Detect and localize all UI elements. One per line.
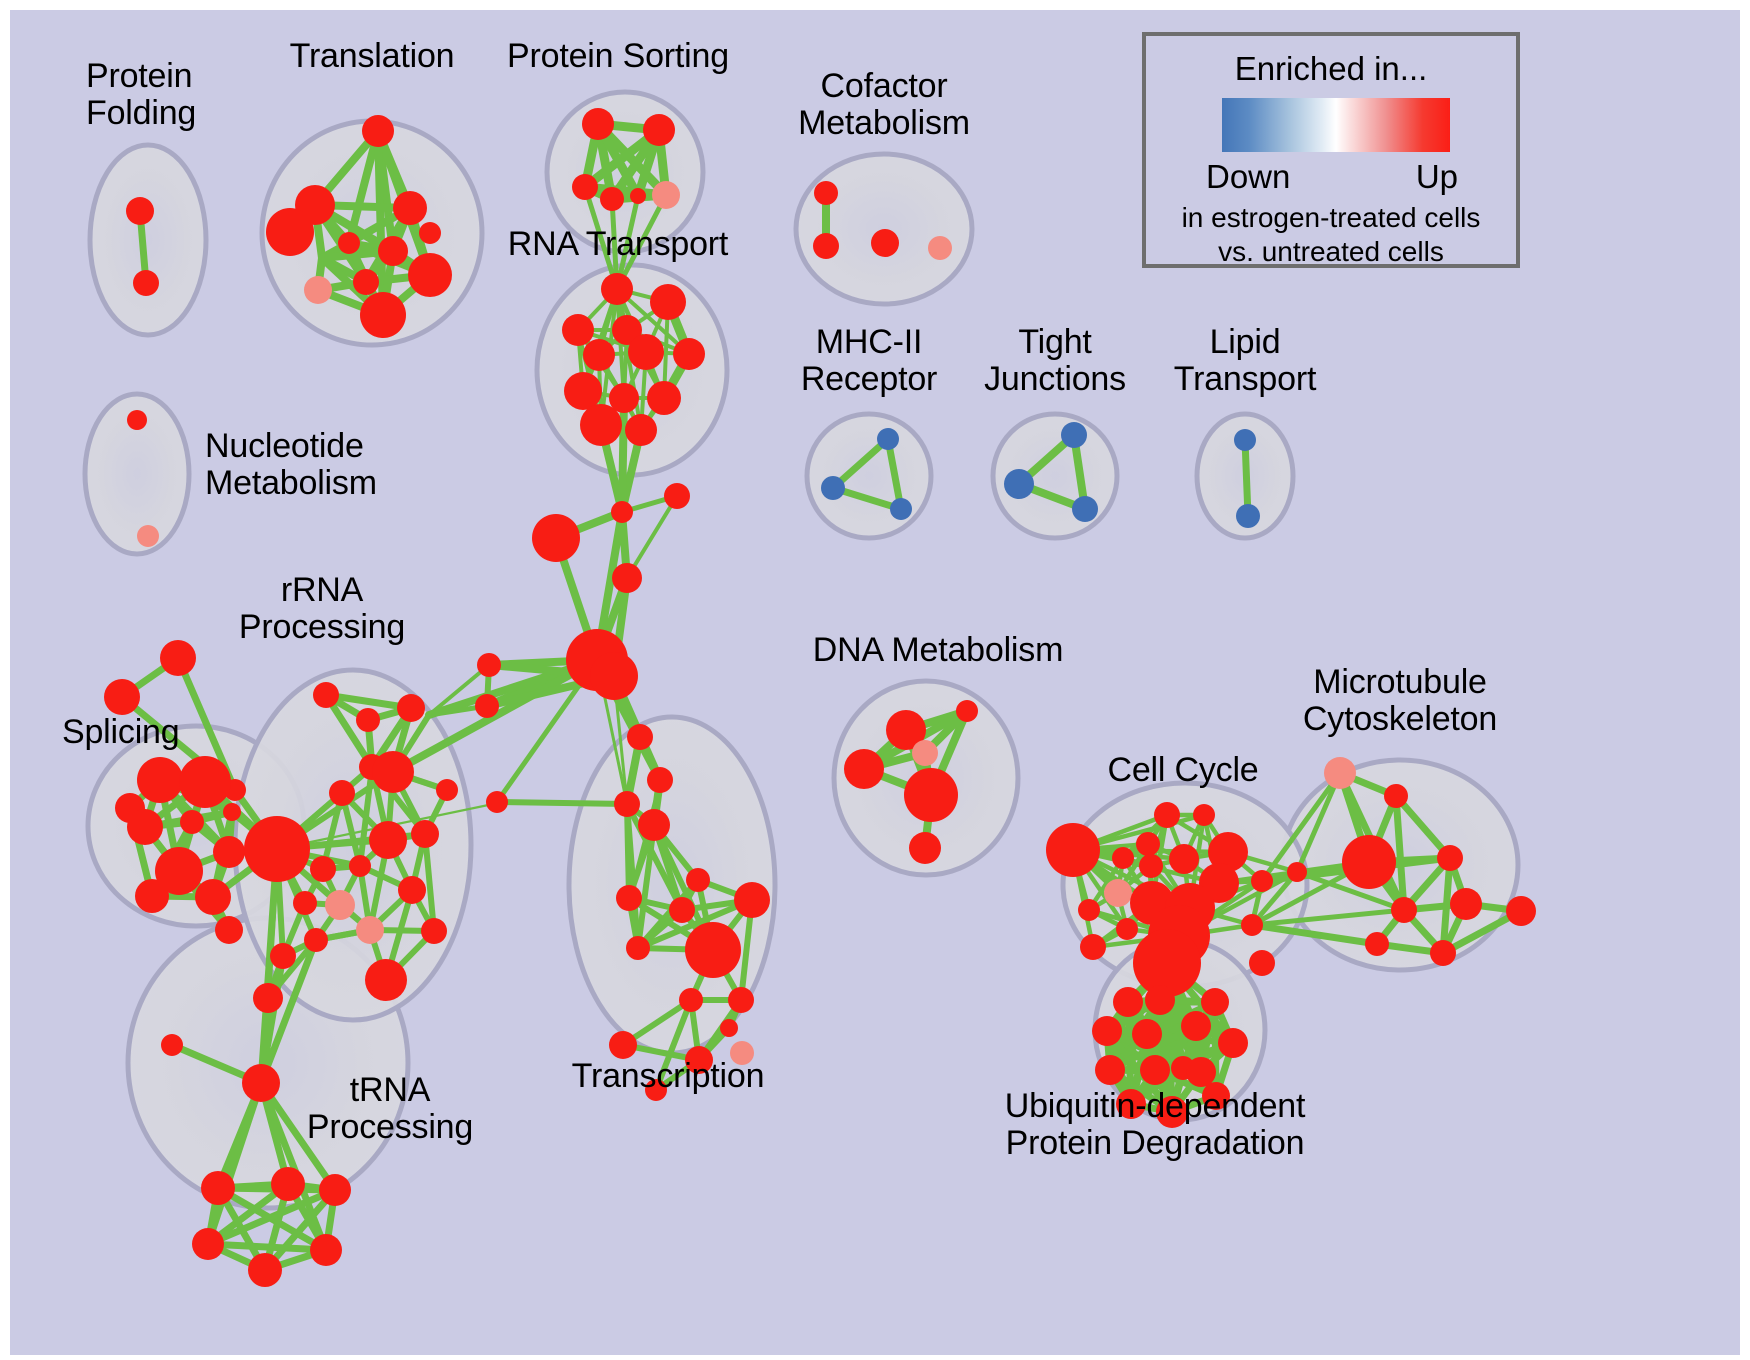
node (270, 943, 296, 969)
cluster-label-cofactor-metabolism: Cofactor Metabolism (798, 68, 970, 141)
node (652, 181, 680, 209)
cluster-label-lipid-transport: Lipid Transport (1174, 324, 1316, 397)
node (643, 114, 675, 146)
cluster-label-ubiquitin-degradation: Ubiquitin-dependent Protein Degradation (1005, 1088, 1306, 1161)
node (562, 314, 594, 346)
node (1287, 862, 1307, 882)
node (1078, 899, 1100, 921)
node (1072, 496, 1098, 522)
node (679, 988, 703, 1012)
node (362, 115, 394, 147)
node (616, 885, 642, 911)
node (664, 483, 690, 509)
node (310, 856, 336, 882)
node (365, 959, 407, 1001)
node (215, 916, 243, 944)
node (325, 890, 355, 920)
node (319, 1174, 351, 1206)
node (626, 936, 650, 960)
node (137, 525, 159, 547)
cluster-label-translation: Translation (290, 38, 455, 75)
node (628, 334, 664, 370)
legend-title: Enriched in... (1146, 50, 1516, 88)
node (338, 232, 360, 254)
node (1104, 879, 1132, 907)
legend-up-label: Up (1416, 158, 1458, 196)
node (253, 983, 283, 1013)
node (369, 821, 407, 859)
node (909, 832, 941, 864)
node (1181, 1011, 1211, 1041)
node (436, 779, 458, 801)
node (179, 756, 231, 808)
node (814, 181, 838, 205)
node (137, 757, 183, 803)
node (192, 1228, 224, 1260)
cluster-label-nucleotide-metabolism: Nucleotide Metabolism (205, 428, 377, 501)
node (532, 514, 580, 562)
cluster-label-rna-transport: RNA Transport (508, 226, 728, 263)
node (127, 809, 163, 845)
node (1169, 844, 1199, 874)
node (1324, 757, 1356, 789)
node (1113, 987, 1143, 1017)
node (1193, 804, 1215, 826)
node (956, 700, 978, 722)
node (590, 652, 638, 700)
node (372, 751, 414, 793)
node (877, 428, 899, 450)
figure-root: Protein Folding Translation Protein Sort… (0, 0, 1750, 1360)
node (1365, 932, 1389, 956)
node (393, 191, 427, 225)
node (248, 1253, 282, 1287)
node (612, 563, 642, 593)
node (1092, 1016, 1122, 1046)
node (638, 809, 670, 841)
node (1218, 1028, 1248, 1058)
node (304, 928, 328, 952)
node (1061, 422, 1087, 448)
node (271, 1167, 305, 1201)
node (1186, 1057, 1216, 1087)
node (1450, 888, 1482, 920)
node (1430, 940, 1456, 966)
node (1251, 870, 1273, 892)
node (1234, 429, 1256, 451)
legend-caption-line2: vs. untreated cells (1146, 236, 1516, 268)
node (1437, 845, 1463, 871)
node (411, 820, 439, 848)
node (304, 276, 332, 304)
node (293, 891, 317, 915)
node (244, 816, 310, 882)
node (1342, 835, 1396, 889)
cluster-label-transcription: Transcription (572, 1058, 765, 1095)
node (1154, 802, 1180, 828)
node (1391, 897, 1417, 923)
cluster-label-protein-folding: Protein Folding (86, 58, 196, 131)
node (329, 780, 355, 806)
node (1132, 1019, 1162, 1049)
node (844, 749, 884, 789)
node (195, 879, 231, 915)
node (356, 916, 384, 944)
node (1506, 896, 1536, 926)
node (928, 236, 952, 260)
node (600, 187, 624, 211)
node (1095, 1055, 1125, 1085)
node (1236, 504, 1260, 528)
cluster-label-cell-cycle: Cell Cycle (1107, 752, 1258, 789)
cluster-label-dna-metabolism: DNA Metabolism (813, 632, 1063, 669)
node (912, 740, 938, 766)
node (728, 987, 754, 1013)
cluster-label-splicing: Splicing (62, 714, 179, 751)
node (1116, 918, 1138, 940)
node (1249, 950, 1275, 976)
node (685, 922, 741, 978)
node (356, 708, 380, 732)
node (686, 868, 710, 892)
node (1046, 823, 1100, 877)
node (650, 284, 686, 320)
node (625, 414, 657, 446)
node (647, 381, 681, 415)
node (1241, 914, 1263, 936)
node (813, 233, 839, 259)
cluster-label-protein-sorting: Protein Sorting (507, 38, 729, 75)
node (609, 1031, 637, 1059)
legend-color-gradient (1222, 98, 1450, 152)
node (408, 253, 452, 297)
node (475, 694, 499, 718)
node (201, 1171, 235, 1205)
node (360, 292, 406, 338)
node (127, 410, 147, 430)
node (353, 269, 379, 295)
node (580, 404, 622, 446)
node (871, 229, 899, 257)
node (242, 1064, 280, 1102)
node (1140, 1055, 1170, 1085)
node (213, 836, 245, 868)
node (160, 640, 196, 676)
node (611, 501, 633, 523)
node (397, 694, 425, 722)
node (614, 791, 640, 817)
node (1080, 934, 1106, 960)
node (1384, 784, 1408, 808)
node (904, 768, 958, 822)
node (126, 197, 154, 225)
node (890, 498, 912, 520)
node (486, 791, 508, 813)
node (1112, 847, 1134, 869)
node (1139, 854, 1163, 878)
node (180, 810, 204, 834)
node (378, 236, 408, 266)
node (630, 188, 646, 204)
node (1201, 988, 1229, 1016)
cluster-label-trna-processing: tRNA Processing (307, 1072, 473, 1145)
node (310, 1234, 342, 1266)
node (223, 803, 241, 821)
cluster-label-mhc-ii-receptor: MHC-II Receptor (801, 324, 937, 397)
node (821, 476, 845, 500)
node (1136, 832, 1160, 856)
node (1145, 985, 1175, 1015)
node (266, 208, 314, 256)
legend-box: Enriched in... Down Up in estrogen-treat… (1142, 32, 1520, 268)
node (627, 724, 653, 750)
node (161, 1034, 183, 1056)
node (419, 222, 441, 244)
node (104, 679, 140, 715)
node (572, 174, 598, 200)
node (133, 270, 159, 296)
node (564, 372, 602, 410)
cluster-label-tight-junctions: Tight Junctions (984, 324, 1126, 397)
node (398, 876, 426, 904)
cluster-hull-protein-folding (90, 145, 206, 335)
node (477, 653, 501, 677)
cluster-label-microtubule-cytoskeleton: Microtubule Cytoskeleton (1303, 664, 1497, 737)
node (313, 682, 339, 708)
node (673, 338, 705, 370)
node (734, 882, 770, 918)
node (155, 847, 203, 895)
node (669, 897, 695, 923)
node (582, 108, 614, 140)
cluster-label-rrna-processing: rRNA Processing (239, 572, 405, 645)
node (647, 767, 673, 793)
node (720, 1019, 738, 1037)
legend-caption-line1: in estrogen-treated cells (1146, 202, 1516, 234)
node (583, 339, 615, 371)
node (601, 273, 633, 305)
legend-down-label: Down (1206, 158, 1290, 196)
cluster-hull-mhc-ii-receptor (807, 414, 931, 538)
node (1004, 469, 1034, 499)
node (349, 855, 371, 877)
node (421, 918, 447, 944)
